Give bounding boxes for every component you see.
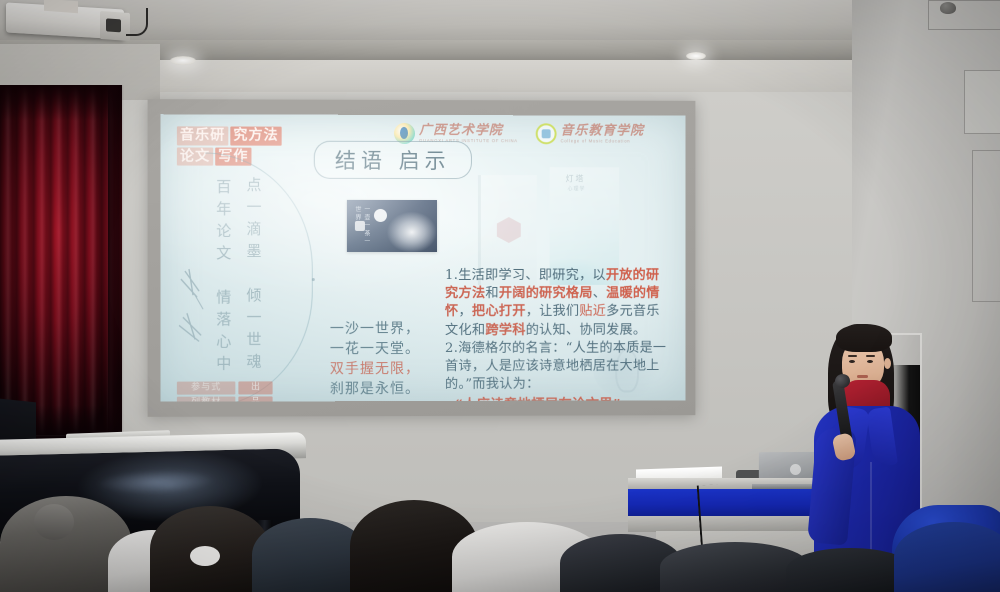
logo-en-text-2: College of Music Education xyxy=(561,139,644,143)
wall-panel-top xyxy=(928,0,1000,30)
projector-cable xyxy=(126,8,148,36)
vertical-column-2: 点一滴墨 倾一世魂 xyxy=(243,177,264,376)
presenter-hair-front xyxy=(836,324,892,352)
slide-body-text: 1.生活即学习、即研究，以开放的研究方法和开阔的研究格局、温暖的情怀，把心打开，… xyxy=(445,267,672,402)
logo-college-music-education: 音乐教育学院 College of Music Education xyxy=(536,123,644,144)
item1-p3: 、 xyxy=(593,286,606,301)
item1-number: 1. xyxy=(445,268,458,283)
title-chip-2: 究方法 xyxy=(230,126,281,145)
presenter-eye-left xyxy=(849,360,855,363)
lecture-hall-photo: 广西艺术学院 GUANGXI ARTS INSTITUTE OF CHINA 音… xyxy=(0,0,1000,592)
vertical-column-1: 百年论文 情落心中 xyxy=(213,179,234,378)
series-stamp: 参与式 出 列教材 品 xyxy=(177,381,282,401)
book-subtitle: 心理学 xyxy=(568,185,586,192)
wall-panel-lower xyxy=(972,150,1000,302)
poem-line-4: 刹那是永恒。 xyxy=(330,380,420,400)
body-paragraph-1: 1.生活即学习、即研究，以开放的研究方法和开阔的研究格局、温暖的情怀，把心打开，… xyxy=(445,267,672,340)
curtain-edge-shadow xyxy=(108,85,124,435)
presenter-brow-right xyxy=(866,355,875,357)
item2-p1: 海德格尔的名言：“人生的本质是一首诗，人是应该诗意地栖居在大地上的。”而我认为： xyxy=(445,340,666,392)
book-seal-icon xyxy=(497,217,521,243)
item1-h2: 开阔的研究格局 xyxy=(499,286,593,301)
stamp-cell-3: 列教材 xyxy=(177,397,235,402)
book-title: 灯塔 xyxy=(566,173,586,184)
stamp-cell-2: 出 xyxy=(238,381,272,394)
stage-curtain xyxy=(0,85,122,435)
item1-h6: 跨学科 xyxy=(485,323,525,338)
poem-line-2: 一花一天堂。 xyxy=(330,340,420,360)
projection-screen: 广西艺术学院 GUANGXI ARTS INSTITUTE OF CHINA 音… xyxy=(161,114,686,402)
section-title-text: 结语 启示 xyxy=(335,149,451,173)
slide-section-title: 结语 启示 xyxy=(314,141,472,179)
presenter-ear xyxy=(884,358,891,369)
ceiling-slab xyxy=(0,0,1000,44)
audience-head xyxy=(894,522,1000,592)
item1-p1: 生活即学习、即研究，以 xyxy=(458,268,606,283)
item1-h5: 贴近 xyxy=(579,304,606,319)
ceiling-downlight-secondary xyxy=(686,52,706,60)
poem-line-3: 双手握无限， xyxy=(330,360,420,380)
poem-line-1: 一沙一世界， xyxy=(330,320,420,340)
photo-square-shape xyxy=(355,221,365,231)
item1-p7: 的认知、协同发展。 xyxy=(526,322,647,337)
audience-row xyxy=(0,492,1000,592)
slide-poem: 一沙一世界， 一花一天堂。 双手握无限， 刹那是永恒。 xyxy=(330,320,420,400)
item1-h4: 把心打开 xyxy=(472,304,526,319)
item1-p2: 和 xyxy=(485,286,498,301)
item2-number: 2. xyxy=(445,341,458,356)
stamp-cell-4: 品 xyxy=(238,396,272,401)
body-paragraph-2: 2.海德格尔的名言：“人生的本质是一首诗，人是应该诗意地栖居在大地上的。”而我认… xyxy=(445,339,672,394)
stamp-cell-1: 参与式 xyxy=(177,381,235,394)
projector-mount xyxy=(44,0,78,13)
wall-panel-mid xyxy=(964,70,1000,134)
photo-circle-shape xyxy=(374,209,387,222)
slide-photo-tea: 一壶一茶一世界 xyxy=(347,200,437,252)
ceiling-downlight xyxy=(170,56,196,65)
arc-dot xyxy=(312,278,315,281)
presenter-mouth xyxy=(857,375,868,378)
presentation-slide: 广西艺术学院 GUANGXI ARTS INSTITUTE OF CHINA 音… xyxy=(161,114,686,402)
presenter-eye-right xyxy=(867,360,873,363)
presenter-brow-left xyxy=(848,355,857,357)
logo-cn-text-2: 音乐教育学院 xyxy=(561,124,644,137)
curtain-top-shadow xyxy=(0,85,122,121)
audience-hair-bun xyxy=(34,504,74,540)
title-chip-1: 音乐研 xyxy=(177,126,228,145)
music-education-logo-icon xyxy=(536,123,557,144)
item1-p5: ，让我们 xyxy=(526,304,580,319)
ceiling-speaker-icon xyxy=(940,2,956,14)
item1-p4: ， xyxy=(458,304,471,319)
audience-hair-tie xyxy=(190,546,220,566)
logo-cn-text: 广西艺术学院 xyxy=(419,124,518,137)
